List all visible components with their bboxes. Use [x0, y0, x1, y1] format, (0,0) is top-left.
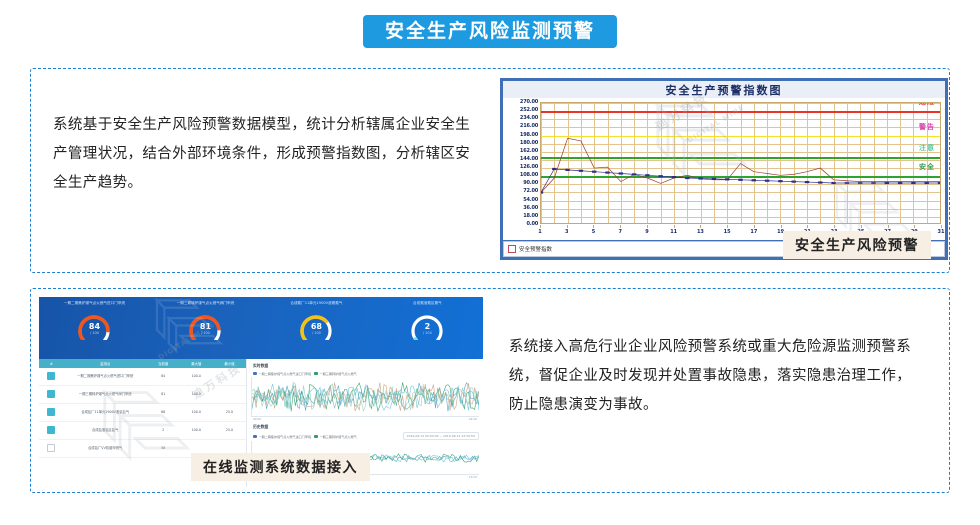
chart-x-tick: 5	[592, 229, 595, 235]
gauge-widget[interactable]: 合成氨厂11单元1900V液氨氨气 68 / 100	[261, 297, 372, 359]
chart-x-tick: 9	[645, 229, 648, 235]
legend-dot-icon	[314, 435, 318, 438]
gauge-caption: 合成氨厂11单元1900V液氨氨气	[288, 301, 344, 312]
chart-x-tick: 3	[565, 229, 568, 235]
realtime-chart-legend: 一期二期焦炉煤气点火燃气进口门甲烷 一期三期转炉煤气点火燃气	[253, 371, 479, 376]
gauge-value: 81	[186, 323, 224, 331]
screenshot-caption-online-monitoring: 在线监测系统数据接入	[191, 453, 370, 481]
gauge-value: 68	[297, 323, 335, 331]
table-cell: 一期二期焦炉煤气点火燃气进口门甲烷	[64, 374, 147, 378]
screenshot-monitoring-dashboard: 一期二期焦炉煤气点火燃气进口门甲烷 84 / 100一期三期转炉煤气点火燃气阀门…	[39, 297, 483, 487]
chart-y-tick: 180.00	[520, 140, 538, 146]
realtime-chart-axis: 09:00 09:40	[251, 417, 479, 421]
row-checkbox[interactable]	[47, 372, 55, 380]
chart-y-tick: 108.00	[520, 172, 538, 178]
table-cell: 2	[147, 428, 180, 432]
legend-swatch-icon	[508, 245, 516, 253]
chart-y-tick: 72.00	[523, 188, 538, 194]
chart-title: 安全生产预警指数图	[666, 82, 783, 98]
chart-y-tick: 270.00	[520, 99, 538, 105]
chart-y-tick: 216.00	[520, 123, 538, 129]
chart-y-tick: 198.00	[520, 132, 538, 138]
gauge-value: 84	[75, 323, 113, 331]
chart-x-tick: 31	[938, 229, 945, 235]
section-paragraph-risk-warning: 系统基于安全生产风险预警数据模型，统计分析辖属企业安全生产管理状况，结合外部环境…	[31, 69, 500, 272]
page-header: 安全生产风险监测预警	[0, 0, 980, 62]
chart-header: 安全生产预警指数图	[503, 81, 945, 98]
chart-y-tick: 0.00	[526, 221, 538, 227]
gauge-unit: / 100	[186, 331, 224, 335]
chart-y-tick: 18.00	[523, 213, 538, 219]
table-cell: 合成氨厂11单元1900V液氨氨气	[64, 410, 147, 414]
legend-label: 安全预警指数	[519, 245, 552, 253]
history-date-range-picker[interactable]: 2019-08-12 00:00:00 ~ 2019-08-12 23:59:5…	[403, 432, 479, 440]
row-checkbox[interactable]	[47, 444, 55, 452]
section-paragraph-online-monitoring: 系统接入高危行业企业风险预警系统或重大危险源监测预警系统，督促企业及时发现并处置…	[483, 289, 949, 492]
legend-item[interactable]: 一期二期焦炉煤气点火燃气进口门甲烷	[253, 371, 311, 376]
chart-x-tick: 7	[618, 229, 621, 235]
table-cell: 81	[147, 392, 180, 396]
chart-x-tick: 17	[750, 229, 757, 235]
realtime-chart-plot	[251, 377, 479, 417]
realtime-chart-title: 实时数据	[253, 363, 479, 369]
chart-y-tick: 90.00	[523, 180, 538, 186]
history-chart-title: 历史数据	[253, 424, 479, 430]
table-cell: 25.0	[213, 428, 246, 432]
row-checkbox[interactable]	[47, 408, 55, 416]
table-column-header: #	[39, 362, 64, 366]
table-column-header: 最大值	[180, 361, 213, 366]
table-body: 一期二期焦炉煤气点火燃气进口门甲烷84100.0一期三期转炉煤气点火燃气阀门甲烷…	[39, 368, 246, 458]
history-chart-legend: 一期二期焦炉煤气点火燃气进口门甲烷 一期三期转炉煤气点火燃气 2019-08-1…	[253, 432, 479, 440]
gauge-caption: 一期二期焦炉煤气点火燃气进口门甲烷	[62, 301, 127, 312]
chart-y-tick: 126.00	[520, 164, 538, 170]
row-checkbox[interactable]	[47, 426, 55, 434]
gauge-dial: 2 / 100	[408, 314, 446, 340]
gauge-unit: / 100	[297, 331, 335, 335]
gauge-value: 2	[408, 323, 446, 331]
gauge-widget[interactable]: 一期二期焦炉煤气点火燃气进口门甲烷 84 / 100	[39, 297, 150, 359]
gauge-caption: 一期三期转炉煤气点火燃气阀门甲烷	[175, 301, 237, 312]
table-column-header: 最小值	[213, 361, 246, 366]
chart-plot-area: 270.00252.00234.00216.00198.00180.00162.…	[503, 98, 945, 240]
chart-y-tick: 252.00	[520, 107, 538, 113]
chart-x-tick: 1	[538, 229, 541, 235]
chart-y-tick: 54.00	[523, 197, 538, 203]
table-row[interactable]: 合成氨液氨区氨气2100.025.0	[39, 422, 246, 440]
table-cell: 100.0	[180, 392, 213, 396]
chart-grid: 危险警告注意安全	[540, 102, 941, 224]
table-column-header: 监测点	[64, 361, 147, 366]
table-row[interactable]: 合成氨厂11单元1900V液氨氨气68100.025.0	[39, 404, 246, 422]
gauge-widget[interactable]: 合成氨液氨区氨气 2 / 100	[372, 297, 483, 359]
chart-y-tick: 234.00	[520, 115, 538, 121]
chart-x-tick: 11	[670, 229, 677, 235]
gauge-unit: / 100	[408, 331, 446, 335]
table-cell: 68	[147, 410, 180, 414]
screenshot-caption-risk-warning: 安全生产风险预警	[783, 231, 931, 259]
table-cell: 合成氨厂VV机组甲烷气	[64, 446, 147, 450]
table-cell: 100.0	[180, 428, 213, 432]
legend-item[interactable]: 一期三期转炉煤气点火燃气	[314, 434, 357, 439]
table-cell: 一期三期转炉煤气点火燃气阀门甲烷	[64, 392, 147, 396]
table-row[interactable]: 一期三期转炉煤气点火燃气阀门甲烷81100.0	[39, 386, 246, 404]
legend-item[interactable]: 一期二期焦炉煤气点火燃气进口门甲烷	[253, 434, 311, 439]
gauge-caption: 合成氨液氨区氨气	[411, 301, 444, 312]
gauge-dial: 84 / 100	[75, 314, 113, 340]
table-cell: 58	[147, 446, 180, 450]
legend-dot-icon	[314, 372, 318, 375]
row-checkbox[interactable]	[47, 390, 55, 398]
table-cell: 84	[147, 374, 180, 378]
legend-item[interactable]: 一期三期转炉煤气点火燃气	[314, 371, 357, 376]
chart-y-tick: 36.00	[523, 205, 538, 211]
gauge-widget[interactable]: 一期三期转炉煤气点火燃气阀门甲烷 81 / 100	[150, 297, 261, 359]
gauge-unit: / 100	[75, 331, 113, 335]
table-header-row: #监测点当前值最大值最小值	[39, 359, 246, 368]
section-card-risk-warning: 系统基于安全生产风险预警数据模型，统计分析辖属企业安全生产管理状况，结合外部环境…	[30, 68, 950, 273]
chart-y-tick: 162.00	[520, 148, 538, 154]
chart-x-tick: 15	[724, 229, 731, 235]
table-column-header: 当前值	[147, 361, 180, 366]
page-title: 安全生产风险监测预警	[363, 15, 617, 48]
screenshot-warning-index-chart: 安全生产预警指数图 270.00252.00234.00216.00198.00…	[500, 78, 949, 263]
chart-y-tick: 144.00	[520, 156, 538, 162]
legend-dot-icon	[253, 435, 257, 438]
gauge-dial: 81 / 100	[186, 314, 224, 340]
legend-dot-icon	[253, 372, 257, 375]
chart-y-axis: 270.00252.00234.00216.00198.00180.00162.…	[505, 100, 539, 224]
section-card-online-monitoring: 一期二期焦炉煤气点火燃气进口门甲烷 84 / 100一期三期转炉煤气点火燃气阀门…	[30, 288, 950, 493]
table-cell: 100.0	[180, 410, 213, 414]
table-cell: 25.0	[213, 410, 246, 414]
table-cell: 100.0	[180, 374, 213, 378]
chart-x-tick: 13	[697, 229, 704, 235]
table-row[interactable]: 一期二期焦炉煤气点火燃气进口门甲烷84100.0	[39, 368, 246, 386]
gauge-panel: 一期二期焦炉煤气点火燃气进口门甲烷 84 / 100一期三期转炉煤气点火燃气阀门…	[39, 297, 483, 359]
table-cell: 合成氨液氨区氨气	[64, 428, 147, 432]
gauge-dial: 68 / 100	[297, 314, 335, 340]
